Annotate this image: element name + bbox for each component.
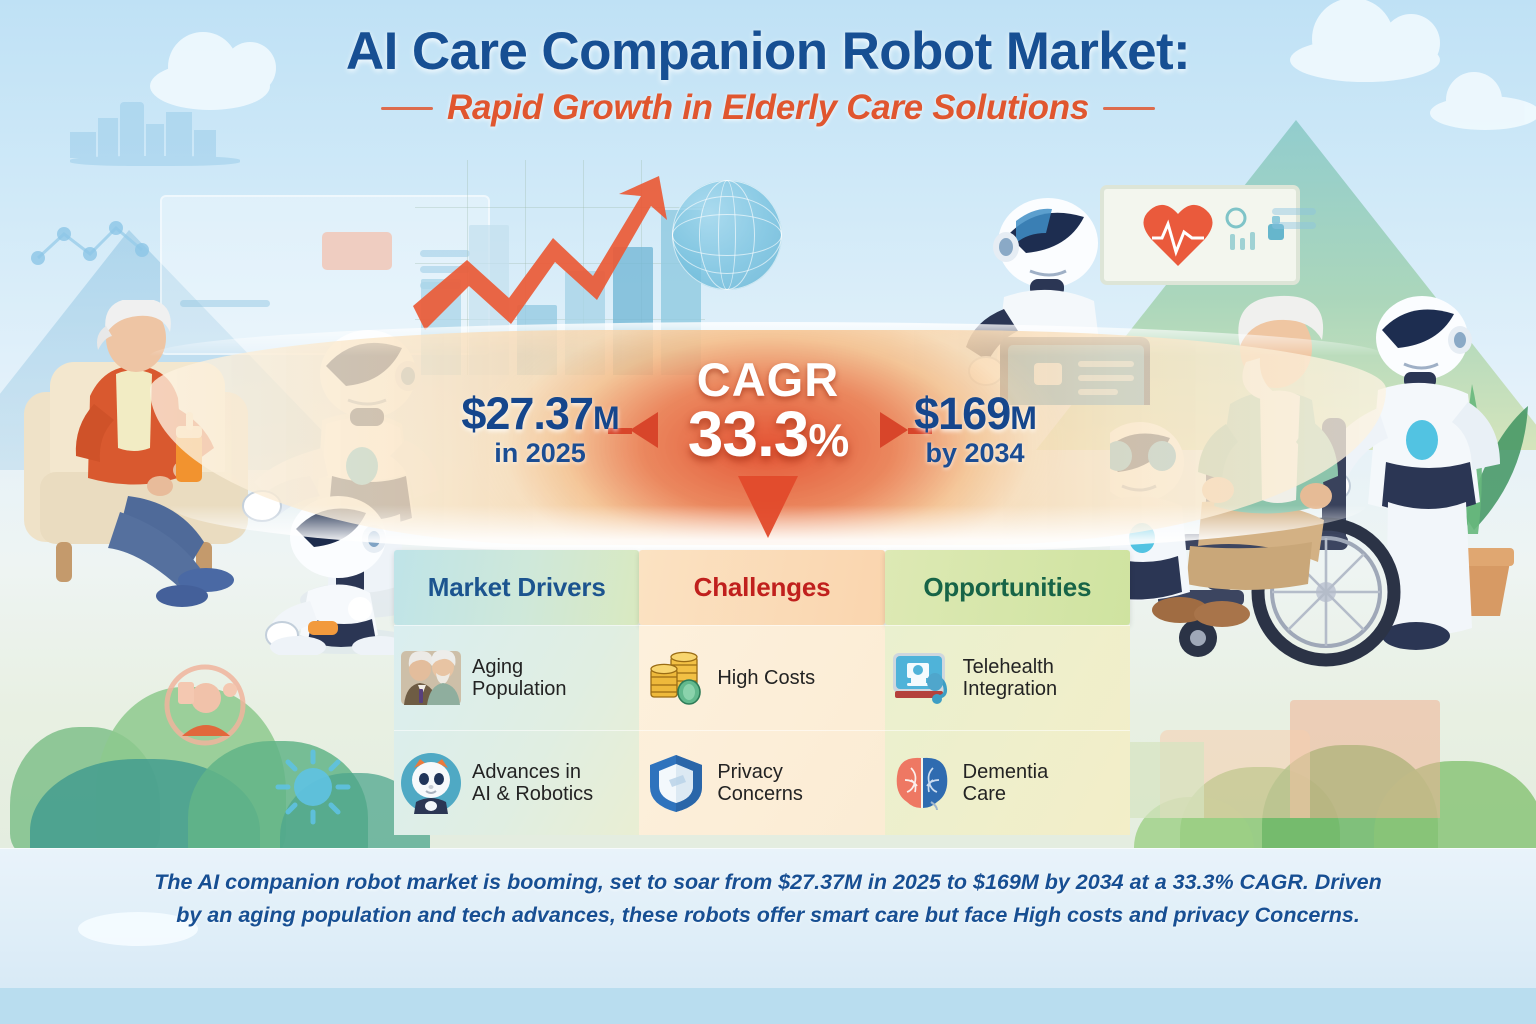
cagr-callout: CAGR 33.3%	[618, 352, 918, 471]
background-building	[1290, 700, 1440, 818]
background-building	[1130, 742, 1204, 818]
panel-market-drivers: Market Drivers	[394, 550, 639, 835]
brain-icon	[891, 752, 953, 814]
person-circle-icon	[160, 660, 250, 750]
shield-icon	[645, 752, 707, 814]
list-item-label: TelehealthIntegration	[963, 656, 1058, 701]
list-item-label: PrivacyConcerns	[717, 761, 803, 806]
telehealth-monitor-icon	[891, 647, 953, 709]
header: AI Care Companion Robot Market: Rapid Gr…	[0, 24, 1536, 128]
background-ui-line	[1272, 208, 1316, 215]
panel-challenges-header: Challenges	[639, 550, 884, 625]
rule-left	[381, 107, 433, 110]
panel-market-drivers-header: Market Drivers	[394, 550, 639, 625]
panel-challenges: Challenges	[639, 550, 884, 835]
list-item-label: AgingPopulation	[472, 656, 567, 701]
globe-icon	[672, 180, 782, 290]
pointer-triangle	[738, 476, 798, 538]
bottom-strip	[0, 988, 1536, 1024]
elderly-couple-icon	[400, 647, 462, 709]
list-item[interactable]: High Costs	[639, 625, 884, 730]
page-subtitle: Rapid Growth in Elderly Care Solutions	[447, 88, 1089, 128]
list-item[interactable]: AgingPopulation	[394, 625, 639, 730]
panel-opportunities-header: Opportunities	[885, 550, 1130, 625]
panel-challenges-title: Challenges	[694, 572, 831, 603]
background-chat-bubble	[322, 232, 392, 270]
list-item[interactable]: TelehealthIntegration	[885, 625, 1130, 730]
heart-rate-icon	[1130, 198, 1290, 274]
panel-market-drivers-body: AgingPopulation	[394, 625, 639, 835]
robot-head-icon	[400, 752, 462, 814]
page-title: AI Care Companion Robot Market:	[0, 24, 1536, 80]
background-ui-line	[1272, 222, 1316, 229]
network-sun-icon	[268, 742, 358, 832]
subtitle-row: Rapid Growth in Elderly Care Solutions	[0, 88, 1536, 128]
infographic-canvas: AI Care Companion Robot Market: Rapid Gr…	[0, 0, 1536, 1024]
summary-caption: The AI companion robot market is booming…	[0, 866, 1536, 931]
panel-market-drivers-title: Market Drivers	[428, 572, 606, 603]
panel-opportunities: Opportunities	[885, 550, 1130, 835]
panel-challenges-body: High Costs PrivacyConcerns	[639, 625, 884, 835]
list-item-label: Advances inAI & Robotics	[472, 761, 593, 806]
molecule-icon	[28, 210, 168, 280]
list-item[interactable]: DementiaCare	[885, 730, 1130, 835]
panel-opportunities-body: TelehealthIntegration	[885, 625, 1130, 835]
cagr-value: 33.3%	[618, 397, 918, 471]
list-item-label: DementiaCare	[963, 761, 1049, 806]
list-item-label: High Costs	[717, 667, 815, 689]
list-item[interactable]: Advances inAI & Robotics	[394, 730, 639, 835]
panels-row: Market Drivers	[394, 550, 1130, 835]
list-item[interactable]: PrivacyConcerns	[639, 730, 884, 835]
rule-right	[1103, 107, 1155, 110]
panel-opportunities-title: Opportunities	[923, 572, 1091, 603]
coin-stack-icon	[645, 647, 707, 709]
